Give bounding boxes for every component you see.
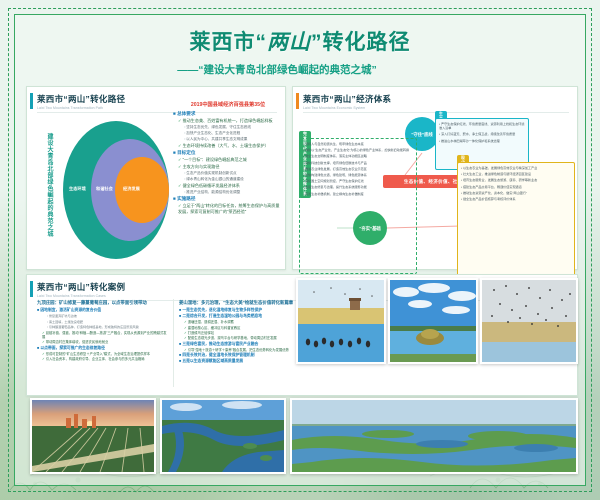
case-column-jiuding: 九顶庄园：矿山修复—藤蔓葡萄庄园，以点带面引领带动 因地制宜，激活矿山资源的复合… xyxy=(37,301,169,362)
outline-item-l1: 总体要求 xyxy=(173,111,283,117)
group-item: • 加强生态修复与治理，提升生态系统服务功能 xyxy=(303,185,413,189)
case-item-l1: 以点带面，探索可推广的生态修复路径 xyxy=(37,346,169,350)
case-item-l1: 因地制宜，激活矿山资源的复合价值 xyxy=(37,308,169,312)
venn-label-economy: 经济发展 xyxy=(123,186,140,192)
group-item: • 完善生态补偿机制，建立横向生态补偿制度 xyxy=(303,192,413,196)
title-calligraphy: 两山 xyxy=(267,30,311,54)
group-item: • 坚持人与自然和谐共生，筑牢绿色生态本底 xyxy=(303,142,413,146)
outline-item-l1: 实施路径 xyxy=(173,196,283,202)
group-item: • 严守生态保护红线、环境质量底线、资源利用上线和生态环境准入清单 xyxy=(439,122,525,130)
photo-vineyard-sunset-aerial xyxy=(30,398,156,474)
outline-item-l2: 主攻方向与实现路径 xyxy=(173,164,283,170)
group-item: • 壮大生态工业，推进绿色制造与循环经济园区建设 xyxy=(461,172,571,176)
outline-item-l1: 目标定位 xyxy=(173,150,283,156)
venn-label-environment: 生态环境 xyxy=(69,186,86,192)
page-subtitle: ——“建设大青岛北部绿色崛起的典范之城” xyxy=(0,62,600,77)
group-item: • 构建以“生态产业化、产业生态化”为核心的绿色产业体系，加快新旧动能转换 xyxy=(303,148,413,152)
group-c-items: • 以生态农业为基础，发展绿色高效农业与精深加工产业• 壮大生态工业，推进绿色制… xyxy=(457,162,575,280)
case-item-l2: 打造候鸟迁徙驿站 xyxy=(179,331,307,335)
case1-items: 因地制宜，激活矿山资源的复合价值修复废弃矿坑与边坡客土回填，土壤改良培肥引种酿酒… xyxy=(37,308,169,361)
panel-right-subtitle: Laixi Two Mountains Economic System xyxy=(303,106,569,110)
case-item-l2: 形成可复制的“矿山生态修复＋产业导入”模式，为全域生态治理提供样本 xyxy=(37,352,169,356)
case-item-l2: 引入社会资本，构建政府引导、企业主体、社会参与的多元共治格局 xyxy=(37,357,169,361)
case2-items: 一是生态优先，退化湿地修复与生物多样性保护二是综合开发，打造生态湿地公园与鸟类栖… xyxy=(179,308,307,363)
photo-bird-flock-flight xyxy=(480,278,578,364)
title-prefix: 莱西市 xyxy=(190,31,256,54)
panel-left-header: 莱西市“两山”转化路径 Laixi Two Mountains Transfor… xyxy=(27,87,285,113)
group-item: • 健全生态文明制度体系，落实主体功能区战略 xyxy=(303,154,413,158)
group-item: • 推动生态资源资产化、资本化，做实“两山银行” xyxy=(461,191,571,195)
outline-item-l3: 以人民为中心，共建共享生态文明成果 xyxy=(173,137,283,142)
group-item: • 强化科技创新支撑，培育绿色低碳技术与产品 xyxy=(303,161,413,165)
path-outline-list: 总体要求推动生态美、百姓富有机统一，打造绿色崛起样板坚持生态优先、绿色发展，守住… xyxy=(173,111,283,216)
node-label-line: “守住” xyxy=(411,132,424,137)
outline-item-l2: 生态环境持续改善（大气、水、土壤生态保护） xyxy=(173,143,283,149)
outline-item-l3: 生态产品价值实现机制创新试点 xyxy=(173,171,283,176)
venn-side-text: 建设大青岛北部绿色崛起的典范之城 xyxy=(43,133,55,253)
case-item-l2: 建湿地核心区、缓冲区与科普宣教区 xyxy=(179,326,307,330)
venn-label-society: 和谐社会 xyxy=(96,186,113,192)
panel-economic-system: 莱西市“两山”经济体系 Laixi Two Mountains Economic… xyxy=(292,86,578,270)
venn-diagram: 建设大青岛北部绿色崛起的典范之城 生态环境 和谐社会 经济发展 xyxy=(39,115,169,265)
outline-item-l2: 健全绿色低碳循环发展经济体系 xyxy=(173,183,283,189)
outline-item-l3: 加快产业生态化、生态产业化进程 xyxy=(173,131,283,136)
photo-wetland-panorama xyxy=(290,398,578,474)
page-title: 莱西市“两山”转化路径 xyxy=(0,26,600,56)
group-a-items: • 坚持人与自然和谐共生，筑牢绿色生态本底• 构建以“生态产业化、产业生态化”为… xyxy=(299,138,417,274)
outline-item-l2: “一个目标”：建设绿色崛起典范之城 xyxy=(173,157,283,163)
title-quote-close: ” xyxy=(311,31,323,54)
group-item: • 培育生态服务业，发展生态旅游、康养、研学等新业态 xyxy=(461,178,571,182)
outline-item-l3: 坚持生态优先、绿色发展，守住生态底线 xyxy=(173,125,283,130)
case-item-l1: 四是长效共治，健全湿地长效保护管理机制 xyxy=(179,353,307,357)
title-quote-open: “ xyxy=(256,31,268,54)
case-item-l2: 配套生态观光步道、观鸟平台与研学基地，带动周边村庄发展 xyxy=(179,336,307,340)
case-item-l1: 五是以生态资源赋能区域高质量发展 xyxy=(179,359,307,363)
group-item: • 深化国土空间规划管控，严守生态保护红线 xyxy=(303,179,413,183)
poster-canvas: 莱西市“两山”转化路径 ——“建设大青岛北部绿色崛起的典范之城” 莱西市“两山”… xyxy=(0,0,600,500)
case-item-l2: 引导“湿地＋旅游＋研学＋康养”融合发展，把生态优势转化为发展优势 xyxy=(179,348,307,352)
case-item-l1: 三是绿色富民，推动生态旅游与富民产业融合 xyxy=(179,342,307,346)
group-item: • 推进山水林田湖草沙一体化保护和系统治理 xyxy=(439,139,525,143)
photo-river-aerial-green xyxy=(160,398,286,474)
node-label-line: 底线 xyxy=(424,132,433,137)
case-item-l2: 退塘还湿、退耕还湿、补水调蓄 xyxy=(179,320,307,324)
title-suffix: 转化路径 xyxy=(323,31,411,54)
case-item-l3: 修复废弃矿坑与边坡 xyxy=(37,314,169,318)
photo-wetland-island-sky xyxy=(388,278,478,364)
case-item-l2: 延链补链、强链，推动“种植—酿造—旅游”三产融合，实现从资源到产业的跨越式发展 xyxy=(37,331,169,340)
poster-title-block: 莱西市“两山”转化路径 ——“建设大青岛北部绿色崛起的典范之城” xyxy=(0,26,600,77)
group-item: • 深入打好蓝天、碧水、净土保卫战，持续改善环境质量 xyxy=(439,132,525,136)
outline-item-l3: 绿水青山转化为金山银山的通道建设 xyxy=(173,177,283,182)
group-item: • 健全生态产品价值核算与考核评价体系 xyxy=(461,197,571,201)
case-item-l1: 一是生态优先，退化湿地修复与生物多样性保护 xyxy=(179,308,307,312)
case-item-l3: 客土回填，土壤改良培肥 xyxy=(37,320,169,324)
group-item: • 推进农业绿色发展，打造高效生态农业示范区 xyxy=(303,167,413,171)
outline-item-l2: 推动生态美、百姓富有机统一，打造绿色崛起样板 xyxy=(173,118,283,124)
case1-title: 九顶庄园：矿山修复—藤蔓葡萄庄园，以点带面引领带动 xyxy=(37,301,169,305)
panel-right-title: 莱西市“两山”经济体系 xyxy=(303,93,569,105)
column-divider xyxy=(173,299,174,387)
panel-right-header: 莱西市“两山”经济体系 Laixi Two Mountains Economic… xyxy=(293,87,577,113)
outline-item-l2: 立足于“两山”转化的目标任务，统筹生态保护与高质量发展，探索可复制可推广的“莱西… xyxy=(173,203,283,215)
case-item-l2: 带动周边村庄集体增收，促进农民就地就业 xyxy=(37,340,169,344)
group-item: • 以生态农业为基础，发展绿色高效农业与精深加工产业 xyxy=(461,166,571,170)
case-item-l3: 引种酿酒葡萄品种，打造特色种植基地，形成独特的庄园景观风貌 xyxy=(37,325,169,329)
photo-wetland-birds-shore xyxy=(296,278,386,364)
panel-transformation-path: 莱西市“两山”转化路径 Laixi Two Mountains Transfor… xyxy=(26,86,286,270)
group-item: • 加快构建绿色交通、绿色建筑、绿色能源体系 xyxy=(303,173,413,177)
case-item-l1: 二是综合开发，打造生态湿地公园与鸟类栖息地 xyxy=(179,314,307,318)
case-column-jiangshan: 姜山湿地：多元治理，“生态大美”绘就生态价值转化新篇章 一是生态优先，退化湿地修… xyxy=(179,301,307,365)
group-item: • 搭建生态产品交易平台，畅通价值实现通道 xyxy=(461,185,571,189)
mind-map: 生态价值、经济价值、社会价值统一 “守住”底线 “夯实”基础 “关于”转化 完善… xyxy=(297,113,573,267)
outline-item-l3: 推进产业结构、能源结构优化调整 xyxy=(173,190,283,195)
case2-title: 姜山湿地：多元治理，“生态大美”绘就生态价值转化新篇章 xyxy=(179,301,307,305)
ranking-highlight: 2019中国县域经济百强县第35位 xyxy=(175,101,281,108)
